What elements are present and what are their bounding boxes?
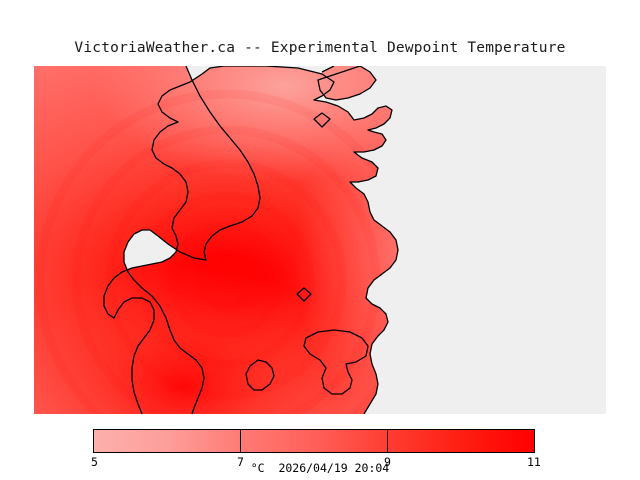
page-title: VictoriaWeather.ca -- Experimental Dewpo… xyxy=(0,40,640,56)
map-canvas xyxy=(34,66,606,414)
colorbar: 5 7 9 11 xyxy=(93,429,535,453)
dewpoint-map xyxy=(34,66,606,414)
colorbar-gradient xyxy=(93,429,535,453)
colorbar-divider-9 xyxy=(387,429,388,453)
colorbar-caption: °C 2026/04/19 20:04 xyxy=(0,461,640,475)
colorbar-divider-7 xyxy=(240,429,241,453)
